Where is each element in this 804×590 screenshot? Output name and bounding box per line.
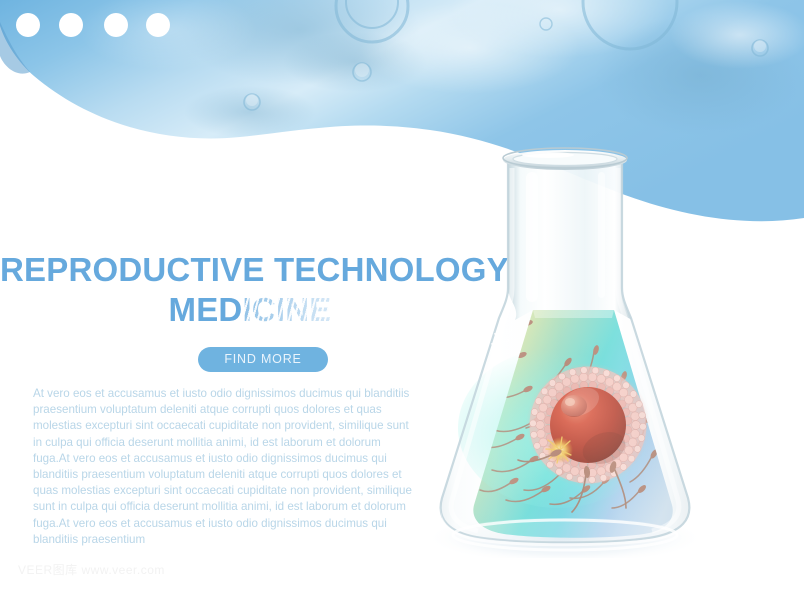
dot [146,13,170,37]
page-title-line-2: MEDICINE [169,290,332,330]
watermark-streak-overlay [243,294,338,325]
dot [16,13,40,37]
stock-watermark: VEER图库 www.veer.com [18,561,165,578]
flask-illustration [408,138,708,558]
flask-rim [503,148,627,170]
dot [104,13,128,37]
find-more-button[interactable]: FIND MORE [198,347,328,372]
dot [59,13,83,37]
hero-banner: REPRODUCTIVE TECHNOLOGY MEDICINE FIND MO… [0,0,804,590]
body-paragraph: At vero eos et accusamus et iusto odio d… [33,386,418,548]
flask-glass [441,148,692,550]
page-title-line-2-text: MEDICINE [169,291,332,328]
